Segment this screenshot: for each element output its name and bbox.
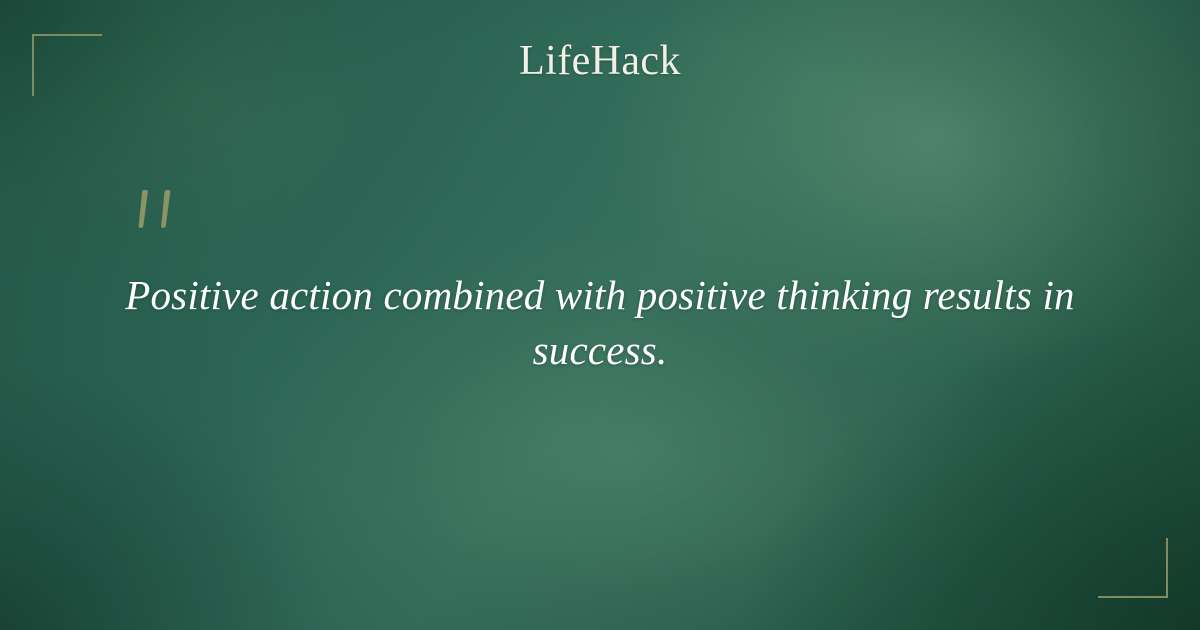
- quote-text: Positive action combined with positive t…: [100, 268, 1100, 378]
- quote-mark-icon: [128, 186, 198, 250]
- corner-bracket-vertical-bar: [1166, 538, 1168, 598]
- corner-bracket-horizontal-bar: [32, 34, 102, 36]
- quote-card: LifeHack Positive action combined with p…: [0, 0, 1200, 630]
- brand-logo: LifeHack: [0, 38, 1200, 84]
- corner-bracket-bottom-right-icon: [1098, 538, 1168, 598]
- corner-bracket-horizontal-bar: [1098, 596, 1168, 598]
